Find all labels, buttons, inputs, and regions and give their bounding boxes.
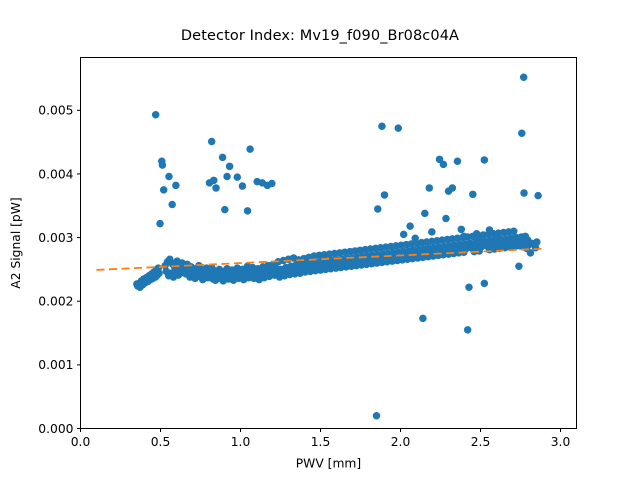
y-tick-label: 0.001 [38,358,73,372]
x-tick-label: 3.0 [551,435,571,449]
data-point [246,145,254,153]
y-axis-label: A2 Signal [pW] [9,197,23,288]
data-point [165,173,173,181]
data-point [426,184,434,192]
data-point [152,111,160,119]
data-point [168,201,176,209]
data-point [381,191,389,199]
data-point [374,205,382,213]
data-point [234,173,242,181]
data-point [481,280,489,288]
data-point [400,231,408,239]
data-point [223,173,231,181]
data-point [156,220,164,228]
data-point [520,189,528,197]
x-tick-label: 0.0 [71,435,91,449]
data-point [518,129,526,137]
data-point [219,154,227,162]
data-point [534,192,542,200]
data-point [449,184,457,192]
data-point [465,283,473,291]
x-tick-label: 1.0 [231,435,251,449]
data-point [160,186,168,194]
data-point [458,226,466,234]
data-point [454,157,462,165]
data-point [428,228,436,236]
y-tick-label: 0.004 [38,167,73,181]
y-tick-label: 0.002 [38,295,73,309]
data-point [268,180,276,188]
data-point [469,191,477,199]
data-point [159,161,167,169]
data-point [440,161,448,169]
data-point [172,182,180,190]
data-point [533,238,541,246]
data-point [421,210,429,218]
y-tick-label: 0.000 [38,422,73,436]
scatter-plot: 0.00.51.01.52.02.53.00.0000.0010.0020.00… [0,0,640,480]
data-point [208,138,216,146]
y-tick-label: 0.005 [38,104,73,118]
data-point [221,206,229,214]
data-point [373,412,381,420]
x-tick-label: 2.5 [471,435,491,449]
data-point [378,122,386,130]
data-point [520,73,528,81]
data-point [239,182,247,190]
x-tick-label: 1.5 [311,435,331,449]
data-point [481,156,489,164]
y-tick-label: 0.003 [38,231,73,245]
data-point [464,326,472,334]
x-tick-label: 2.0 [391,435,411,449]
x-axis-label: PWV [mm] [296,457,361,471]
figure-canvas: Detector Index: Mv19_f090_Br08c04A 0.00.… [0,0,640,480]
data-point [210,177,218,185]
data-point [244,207,252,215]
data-point [406,222,414,230]
data-point [515,262,523,270]
data-point [212,184,220,192]
x-tick-label: 0.5 [151,435,171,449]
data-point [442,215,450,223]
data-point [419,315,427,323]
data-point [395,124,403,132]
data-point [226,163,234,171]
data-point [155,269,163,277]
